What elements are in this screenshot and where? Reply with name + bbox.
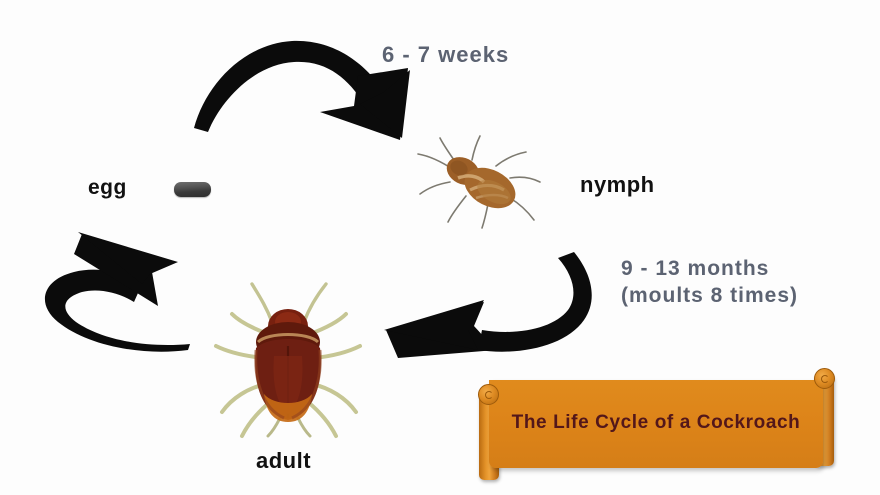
duration-nymph-to-adult: 9 - 13 months (moults 8 times) <box>621 255 798 309</box>
title-banner: The Life Cycle of a Cockroach <box>476 372 836 474</box>
arrow-adult-to-egg <box>38 214 213 359</box>
duration-nymph-to-adult-line2: (moults 8 times) <box>621 282 798 309</box>
banner-curl-right-icon <box>814 368 835 389</box>
duration-nymph-to-adult-line1: 9 - 13 months <box>621 255 798 282</box>
stage-label-adult: adult <box>256 448 311 474</box>
arrow-nymph-to-adult <box>378 250 606 375</box>
cockroach-adult-image <box>196 272 380 444</box>
egg-ootheca <box>174 182 211 197</box>
life-cycle-diagram: egg nymph adult 6 - 7 weeks 9 - 13 month… <box>0 0 880 495</box>
banner-curl-left-icon <box>478 384 499 405</box>
cockroach-nymph-image <box>414 126 542 230</box>
duration-egg-to-nymph: 6 - 7 weeks <box>382 42 509 68</box>
banner-title-text: The Life Cycle of a Cockroach <box>476 412 836 434</box>
stage-label-egg: egg <box>88 176 127 200</box>
stage-label-nymph: nymph <box>580 172 655 198</box>
